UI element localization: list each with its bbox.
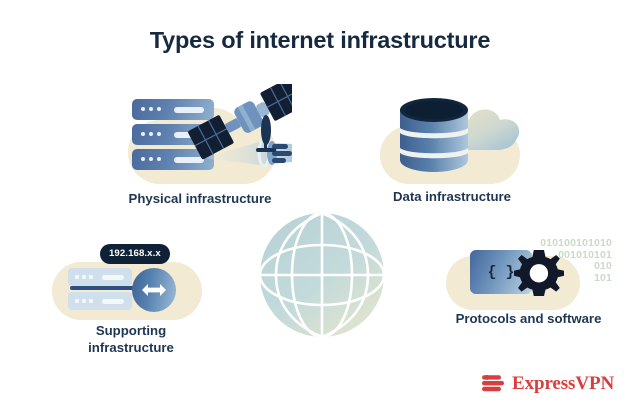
node-physical-infrastructure: Physical infrastructure (110, 86, 290, 186)
globe-icon (254, 207, 390, 343)
bidirectional-arrow-icon (132, 268, 176, 312)
caption-line-2: infrastructure (11, 339, 251, 356)
node-supporting-infrastructure: 192.168.x.x Supporting infrastructure (46, 246, 216, 324)
database-icon (398, 96, 470, 174)
expressvpn-wordmark: ExpressVPN (512, 374, 614, 393)
server-icon (68, 268, 132, 286)
caption-protocols-and-software: Protocols and software (409, 310, 640, 327)
node-protocols-and-software: 010100101010 001010101 010 101 { } Proto… (446, 240, 611, 312)
caption-physical-infrastructure: Physical infrastructure (80, 190, 320, 207)
node-data-infrastructure: Data infrastructure (372, 92, 532, 188)
infographic-canvas: Types of internet infrastructure (0, 0, 640, 420)
expressvpn-logo: ExpressVPN (481, 369, 601, 397)
server-icon (68, 292, 132, 310)
caption-line-1: Supporting (11, 322, 251, 339)
page-title: Types of internet infrastructure (0, 27, 640, 54)
caption-supporting-infrastructure: Supporting infrastructure (11, 322, 251, 356)
gear-icon (514, 248, 564, 298)
satellite-icon (188, 84, 292, 170)
caption-data-infrastructure: Data infrastructure (332, 188, 572, 205)
ip-address-badge: 192.168.x.x (100, 244, 170, 264)
expressvpn-e-logo-icon (481, 371, 505, 395)
